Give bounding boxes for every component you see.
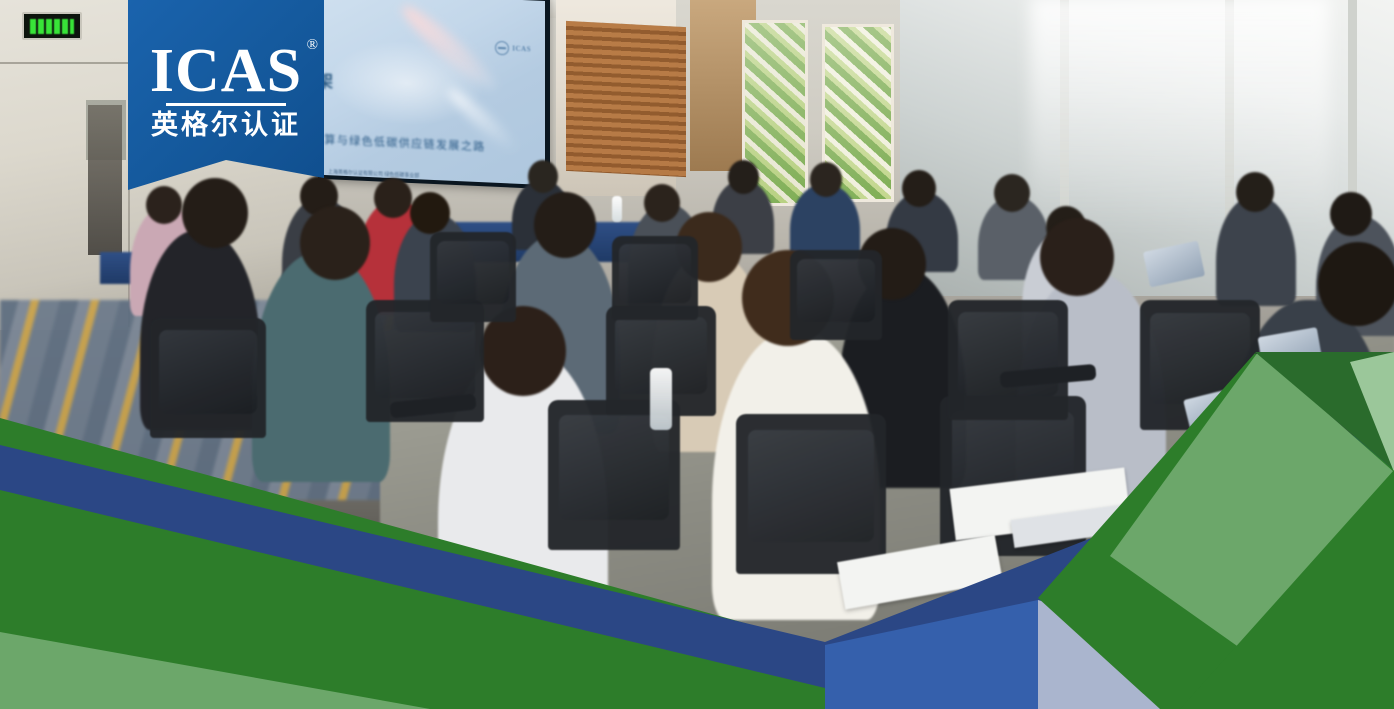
icas-wordmark: ICAS ® [150, 42, 302, 100]
audience-head [728, 160, 759, 194]
audience-head [410, 192, 450, 234]
chair [612, 236, 698, 320]
audience-head [644, 184, 680, 222]
audience-head [902, 170, 936, 207]
audience-head [1236, 172, 1274, 212]
doorway [88, 105, 122, 255]
slide-subtitle: 核算与绿色低碳供应链发展之路 [322, 130, 486, 154]
registered-trademark-icon: ® [307, 38, 319, 53]
audience-head [1318, 242, 1394, 326]
projection-screen-surface: 架 核算与绿色低碳供应链发展之路 上海英格尔认证有限公司 绿色低碳事业部 ICA… [322, 0, 545, 185]
audience-head [146, 186, 182, 224]
chair [790, 250, 882, 340]
chair [736, 414, 886, 574]
icas-wordmark-text: ICAS [150, 37, 302, 105]
chair [430, 232, 516, 322]
audience-head [182, 178, 248, 248]
icas-chinese-name: 英格尔认证 [151, 110, 301, 140]
audience-head [810, 162, 842, 197]
slide-logo: ICAS [495, 41, 531, 57]
projection-screen: 架 核算与绿色低碳供应链发展之路 上海英格尔认证有限公司 绿色低碳事业部 ICA… [318, 0, 550, 189]
slide-logo-text: ICAS [512, 45, 531, 54]
audience-head [300, 206, 370, 280]
water-bottle [650, 368, 672, 430]
window-glare [1030, 0, 1330, 236]
audience-head [994, 174, 1030, 212]
slide-logo-ring-icon [495, 41, 509, 56]
water-bottle [612, 196, 622, 222]
audience-head [1330, 192, 1372, 236]
exit-sign [22, 12, 82, 40]
audience-head [534, 192, 596, 258]
chair [150, 318, 266, 438]
slide-footnote: 上海英格尔认证有限公司 绿色低碳事业部 [328, 169, 419, 180]
banner-canvas: 架 核算与绿色低碳供应链发展之路 上海英格尔认证有限公司 绿色低碳事业部 ICA… [0, 0, 1394, 709]
audience-head [1040, 218, 1114, 296]
window-blinds [566, 21, 686, 177]
audience-head [374, 178, 412, 218]
audience-head [528, 160, 558, 193]
chair [948, 300, 1068, 420]
slide-light-streak [396, 0, 502, 97]
